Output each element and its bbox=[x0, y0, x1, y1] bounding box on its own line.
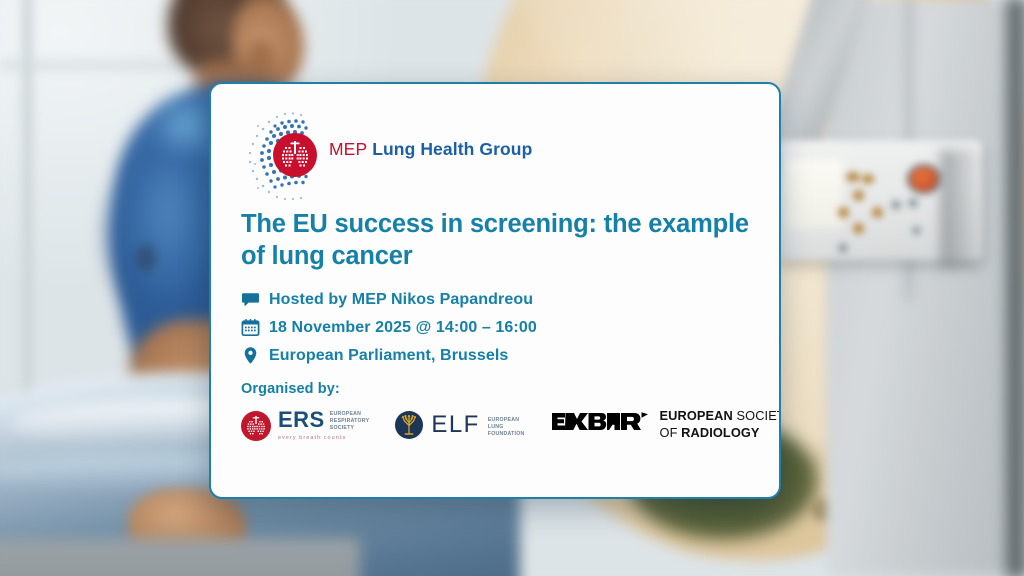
event-card: MEP Lung Health Group The EU success in … bbox=[209, 82, 781, 499]
event-details: Hosted by MEP Nikos Papandreou bbox=[241, 290, 749, 365]
event-title: The EU success in screening: the example… bbox=[241, 208, 749, 272]
detail-datetime-text: 18 November 2025 @ 14:00 – 16:00 bbox=[269, 319, 537, 337]
ers-tagline: every breath counts bbox=[278, 435, 369, 441]
organiser-logo-elf: ELF EUROPEAN LUNG FOUNDATION bbox=[395, 411, 524, 439]
speech-bubble-icon bbox=[241, 290, 260, 309]
ers-wordmark: ERS EUROPEAN RESPIRATORY SOCIETY every b… bbox=[278, 409, 369, 441]
mep-lung-health-group-logo-icon bbox=[241, 104, 333, 202]
esr-mark-icon bbox=[551, 408, 651, 441]
elf-abbr: ELF bbox=[431, 413, 480, 437]
logo-row: MEP Lung Health Group bbox=[241, 104, 749, 202]
esr-line-1: EUROPEAN SOCIETY bbox=[660, 408, 781, 423]
elf-full-name: EUROPEAN LUNG FOUNDATION bbox=[488, 417, 525, 439]
logo-text-group: Lung Health Group bbox=[372, 139, 532, 159]
organiser-logos: ERS EUROPEAN RESPIRATORY SOCIETY every b… bbox=[241, 408, 749, 441]
esr-wordmark: EUROPEAN SOCIETY OF RADIOLOGY bbox=[660, 408, 781, 441]
detail-location: European Parliament, Brussels bbox=[241, 346, 749, 365]
ers-abbr: ERS bbox=[278, 409, 325, 431]
elf-tree-icon bbox=[395, 411, 423, 439]
organiser-logo-ers: ERS EUROPEAN RESPIRATORY SOCIETY every b… bbox=[241, 409, 369, 441]
organised-by-label: Organised by: bbox=[241, 381, 749, 397]
ers-mark-icon bbox=[241, 411, 271, 441]
organiser-logo-esr: EUROPEAN SOCIETY OF RADIOLOGY bbox=[551, 408, 781, 441]
detail-host: Hosted by MEP Nikos Papandreou bbox=[241, 290, 749, 309]
detail-location-text: European Parliament, Brussels bbox=[269, 347, 508, 365]
esr-word-european: EUROPEAN bbox=[660, 408, 733, 423]
esr-line-2: OF RADIOLOGY bbox=[660, 425, 760, 440]
calendar-icon bbox=[241, 318, 260, 337]
logo-wordmark: MEP Lung Health Group bbox=[329, 139, 532, 160]
esr-word-radiology: RADIOLOGY bbox=[681, 425, 759, 440]
ers-full-name: EUROPEAN RESPIRATORY SOCIETY bbox=[330, 411, 370, 432]
event-announcement-slide: MEP Lung Health Group The EU success in … bbox=[0, 0, 1024, 576]
esr-word-of: OF bbox=[660, 425, 678, 440]
logo-text-mep: MEP bbox=[329, 139, 367, 159]
detail-datetime: 18 November 2025 @ 14:00 – 16:00 bbox=[241, 318, 749, 337]
esr-word-society: SOCIETY bbox=[737, 408, 781, 423]
detail-host-text: Hosted by MEP Nikos Papandreou bbox=[269, 291, 533, 309]
lungs-icon bbox=[273, 133, 317, 177]
location-pin-icon bbox=[241, 346, 260, 365]
